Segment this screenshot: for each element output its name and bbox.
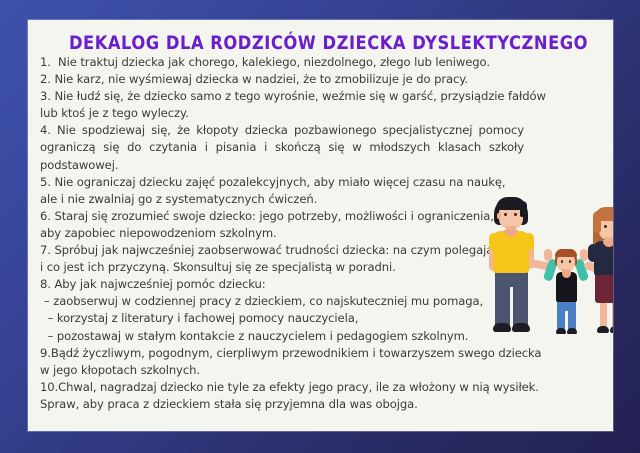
child-hair-fringe (555, 249, 577, 257)
father-eye-left (504, 213, 507, 216)
list-item: lub ktoś je z tego wyleczy. (40, 105, 600, 122)
child-eye-right (569, 260, 571, 263)
father-sleeve-left (489, 233, 499, 250)
list-item: 3. Nie łudź się, że dziecko samo z tego … (40, 88, 600, 105)
child-hand-left (544, 249, 552, 261)
mother-sleeve-left (588, 244, 598, 262)
mother-leg-left (600, 301, 607, 329)
list-item: podstawowej. (40, 157, 524, 174)
poster-card: DEKALOG DLA RODZICÓW DZIECKA DYSLEKTYCZN… (28, 20, 613, 431)
child-hand-right (580, 249, 588, 261)
list-item: Spraw, aby praca z dzieckiem stała się p… (40, 396, 600, 413)
child-shoe-left (556, 328, 566, 334)
mother-shoe-right (610, 326, 613, 333)
father-sleeve-right (524, 233, 534, 250)
list-item: ograniczą się do czytania i pisania i sk… (40, 139, 524, 156)
father-eye-right (514, 213, 517, 216)
father-leg-gap (510, 287, 513, 329)
mother-hair-side (593, 211, 601, 233)
father-ear (497, 213, 501, 219)
father-hair-side (520, 201, 527, 217)
father-shoe-right (512, 323, 530, 332)
mother-leg-right (612, 301, 613, 329)
child-shoe-right (567, 328, 577, 334)
list-item: 2. Nie karz, nie wyśmiewaj dziecka w nad… (40, 71, 600, 88)
list-item: 4. Nie spodziewaj się, że kłopoty dzieck… (40, 122, 524, 139)
list-item: 10.Chwal, nagradzaj dziecko nie tyle za … (40, 379, 600, 396)
mother-shoe-left (597, 326, 609, 333)
family-illustration (480, 195, 613, 373)
mother-eye-left (604, 225, 607, 228)
page-title: DEKALOG DLA RODZICÓW DZIECKA DYSLEKTYCZN… (69, 32, 572, 54)
mother-skirt (595, 272, 613, 303)
list-item: 1. Nie traktuj dziecka jak chorego, kale… (40, 54, 600, 71)
child-eye-left (561, 260, 563, 263)
poster-canvas: DEKALOG DLA RODZICÓW DZIECKA DYSLEKTYCZN… (0, 0, 640, 453)
father-shoe-left (493, 323, 511, 332)
list-item: 5. Nie ograniczaj dziecku zajęć pozalekc… (40, 174, 600, 191)
